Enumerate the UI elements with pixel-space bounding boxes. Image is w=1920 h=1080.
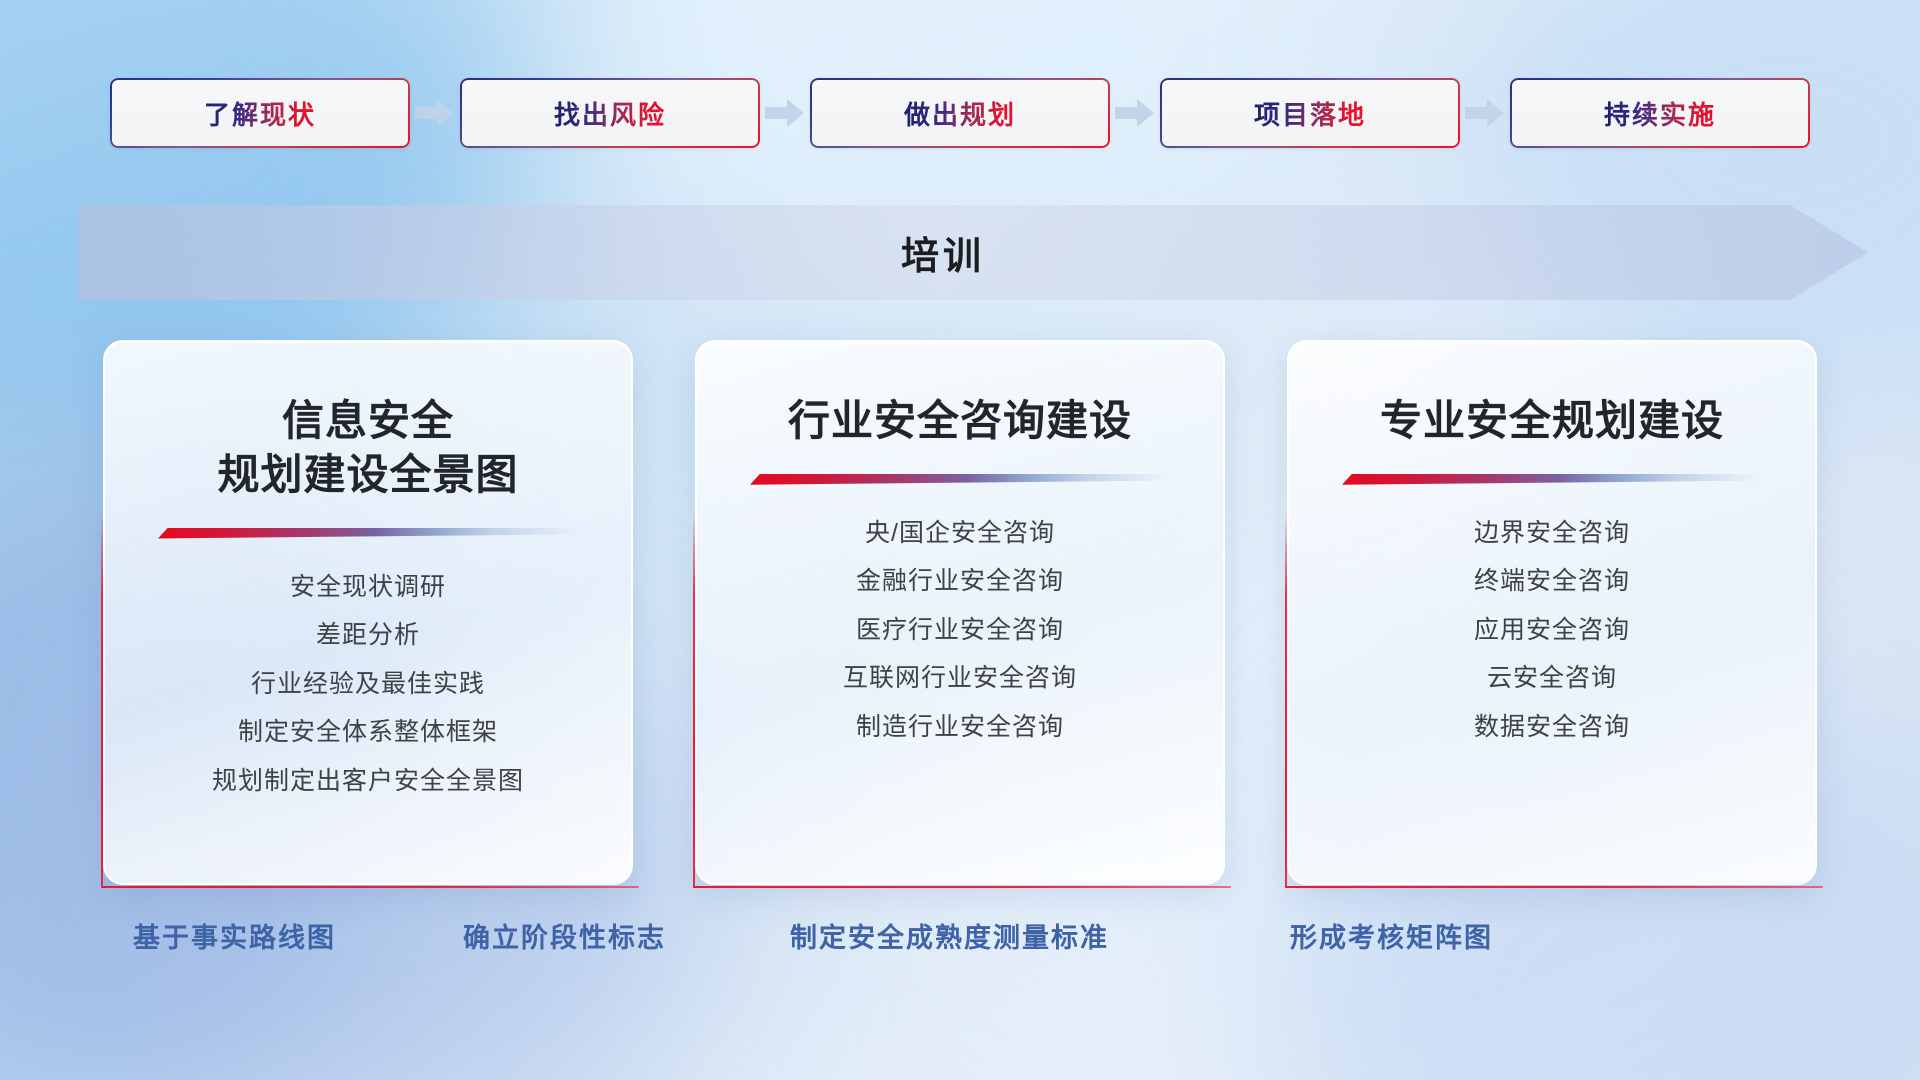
card-list-2: 央/国企安全咨询 金融行业安全咨询 医疗行业安全咨询 互联网行业安全咨询 制造行…	[697, 515, 1223, 747]
step-arrow-icon-3	[1110, 78, 1160, 148]
step-label-2: 找出风险	[554, 95, 666, 132]
card-divider-2	[750, 474, 1170, 485]
list-item: 云安全咨询	[1487, 660, 1617, 698]
card-title-3: 专业安全规划建设	[1380, 394, 1724, 448]
list-item: 制造行业安全咨询	[856, 709, 1064, 747]
card-professional-security-planning[interactable]: 专业安全规划建设 边界安全咨询 终端安全咨询 应用安全咨询 云安全咨询 数据安全…	[1287, 340, 1817, 885]
card-accent-bottom-line	[1285, 886, 1823, 888]
footer-label-row: 基于事实路线图 确立阶段性标志 制定安全成熟度测量标准 形成考核矩阵图	[0, 905, 1920, 965]
list-item: 行业经验及最佳实践	[251, 666, 485, 704]
card-title-2-line1: 行业安全咨询建设	[788, 394, 1132, 448]
card-divider-3	[1342, 474, 1762, 485]
step-label-3: 做出规划	[904, 95, 1016, 132]
list-item: 数据安全咨询	[1474, 709, 1630, 747]
card-title-3-line1: 专业安全规划建设	[1380, 394, 1724, 448]
card-industry-security-consulting[interactable]: 行业安全咨询建设 央/国企安全咨询 金融行业安全咨询 医疗行业安全咨询 互联网行…	[695, 340, 1225, 885]
card-list-3: 边界安全咨询 终端安全咨询 应用安全咨询 云安全咨询 数据安全咨询	[1289, 515, 1815, 747]
list-item: 应用安全咨询	[1474, 612, 1630, 650]
list-item: 差距分析	[316, 617, 420, 655]
footer-label-1: 基于事实路线图	[133, 905, 336, 965]
card-accent-left-line	[693, 512, 695, 887]
banner-title: 培训	[78, 205, 1868, 300]
footer-label-2: 确立阶段性标志	[463, 905, 666, 965]
card-accent-bottom-line	[693, 886, 1231, 888]
card-title-1-line1: 信息安全	[217, 394, 518, 448]
training-banner: 培训	[78, 205, 1868, 300]
list-item: 安全现状调研	[290, 569, 446, 607]
step-box-5[interactable]: 持续实施	[1510, 78, 1810, 148]
card-group: 信息安全 规划建设全景图 安全现状调研 差距分析 行业经验及最佳实践 制定安全体…	[0, 340, 1920, 885]
card-list-1: 安全现状调研 差距分析 行业经验及最佳实践 制定安全体系整体框架 规划制定出客户…	[105, 569, 631, 801]
list-item: 边界安全咨询	[1474, 515, 1630, 553]
step-label-4: 项目落地	[1254, 95, 1366, 132]
card-title-1-line2: 规划建设全景图	[217, 448, 518, 502]
step-label-5: 持续实施	[1604, 95, 1716, 132]
card-info-security-blueprint[interactable]: 信息安全 规划建设全景图 安全现状调研 差距分析 行业经验及最佳实践 制定安全体…	[103, 340, 633, 885]
card-accent-left-line	[101, 512, 103, 887]
list-item: 规划制定出客户安全全景图	[212, 763, 524, 801]
step-box-2[interactable]: 找出风险	[460, 78, 760, 148]
list-item: 医疗行业安全咨询	[856, 612, 1064, 650]
step-arrow-icon-2	[760, 78, 810, 148]
footer-label-3: 制定安全成熟度测量标准	[790, 905, 1109, 965]
step-label-1: 了解现状	[204, 95, 316, 132]
step-box-3[interactable]: 做出规划	[810, 78, 1110, 148]
step-arrow-icon-4	[1460, 78, 1510, 148]
list-item: 制定安全体系整体框架	[238, 714, 498, 752]
step-box-4[interactable]: 项目落地	[1160, 78, 1460, 148]
list-item: 金融行业安全咨询	[856, 563, 1064, 601]
card-accent-left-line	[1285, 512, 1287, 887]
card-accent-bottom-line	[101, 886, 639, 888]
process-step-flow: 了解现状 找出风险 做出规划 项目落地 持续实施	[0, 78, 1920, 148]
step-box-1[interactable]: 了解现状	[110, 78, 410, 148]
list-item: 互联网行业安全咨询	[843, 660, 1077, 698]
card-title-1: 信息安全 规划建设全景图	[217, 394, 518, 502]
list-item: 终端安全咨询	[1474, 563, 1630, 601]
card-divider-1	[158, 528, 578, 539]
step-arrow-icon-1	[410, 78, 460, 148]
card-title-2: 行业安全咨询建设	[788, 394, 1132, 448]
list-item: 央/国企安全咨询	[865, 515, 1055, 553]
footer-label-4: 形成考核矩阵图	[1290, 905, 1493, 965]
